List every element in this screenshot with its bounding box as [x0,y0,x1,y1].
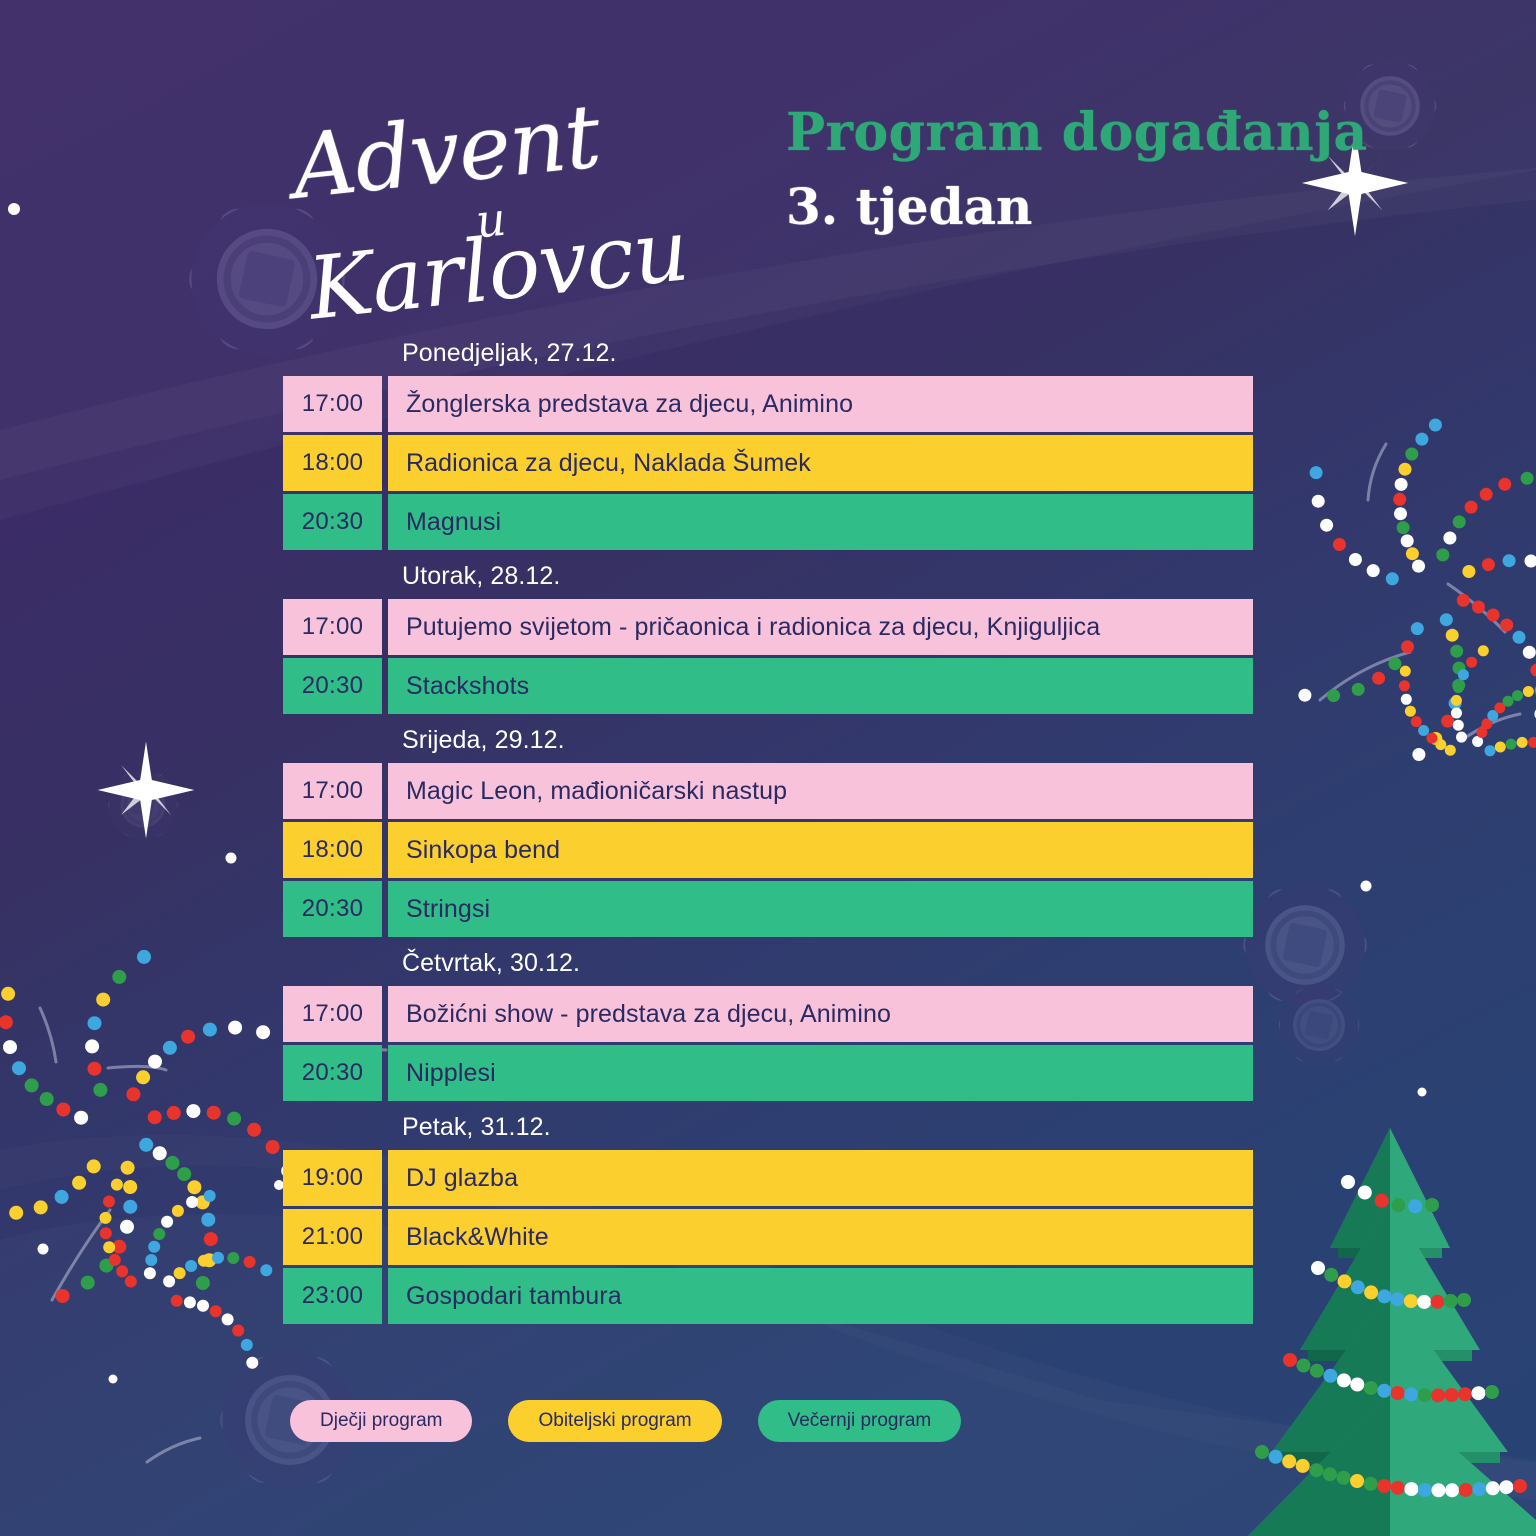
event-title: Božićni show - predstava za djecu, Animi… [388,986,1253,1042]
event-time: 23:00 [283,1268,382,1324]
event-time: 20:30 [283,494,382,550]
event-time: 18:00 [283,822,382,878]
event-title: Radionica za djecu, Naklada Šumek [388,435,1253,491]
event-row[interactable]: 17:00Putujemo svijetom - pričaonica i ra… [283,599,1253,655]
event-row[interactable]: 20:30Stackshots [283,658,1253,714]
legend: Dječji programObiteljski programVečernji… [290,1400,961,1442]
event-row[interactable]: 21:00Black&White [283,1209,1253,1265]
logo-line-karlovcu: Karlovcu [304,200,692,339]
poster-canvas: Advent u Karlovcu Program događanja 3. t… [0,0,1536,1536]
legend-pill-yellow[interactable]: Obiteljski program [508,1400,721,1442]
event-row[interactable]: 23:00Gospodari tambura [283,1268,1253,1324]
event-title: Žonglerska predstava za djecu, Animino [388,376,1253,432]
event-title: Nipplesi [388,1045,1253,1101]
advent-logo: Advent u Karlovcu [286,70,706,290]
event-row[interactable]: 17:00Magic Leon, mađioničarski nastup [283,763,1253,819]
event-row[interactable]: 20:30Stringsi [283,881,1253,937]
day-heading: Ponedjeljak, 27.12. [283,330,1253,376]
event-title: Gospodari tambura [388,1268,1253,1324]
day-heading: Utorak, 28.12. [283,553,1253,599]
event-row[interactable]: 18:00Radionica za djecu, Naklada Šumek [283,435,1253,491]
event-row[interactable]: 20:30Magnusi [283,494,1253,550]
event-time: 18:00 [283,435,382,491]
event-time: 20:30 [283,881,382,937]
schedule-table: Ponedjeljak, 27.12.17:00Žonglerska preds… [283,330,1253,1327]
event-time: 20:30 [283,1045,382,1101]
event-time: 17:00 [283,986,382,1042]
event-title: Stackshots [388,658,1253,714]
event-time: 17:00 [283,763,382,819]
event-title: Magic Leon, mađioničarski nastup [388,763,1253,819]
event-time: 20:30 [283,658,382,714]
event-title: Sinkopa bend [388,822,1253,878]
event-title: Stringsi [388,881,1253,937]
event-title: Putujemo svijetom - pričaonica i radioni… [388,599,1253,655]
event-row[interactable]: 20:30Nipplesi [283,1045,1253,1101]
page-subtitle: 3. tjedan [786,179,1368,234]
event-row[interactable]: 19:00DJ glazba [283,1150,1253,1206]
day-heading: Četvrtak, 30.12. [283,940,1253,986]
event-title: Magnusi [388,494,1253,550]
legend-pill-green[interactable]: Večernji program [758,1400,962,1442]
event-time: 17:00 [283,599,382,655]
logo-line-advent: Advent [287,84,604,219]
event-title: DJ glazba [388,1150,1253,1206]
event-title: Black&White [388,1209,1253,1265]
legend-pill-pink[interactable]: Dječji program [290,1400,472,1442]
day-heading: Petak, 31.12. [283,1104,1253,1150]
event-row[interactable]: 17:00Božićni show - predstava za djecu, … [283,986,1253,1042]
page-title: Program događanja [786,104,1368,161]
event-row[interactable]: 18:00Sinkopa bend [283,822,1253,878]
event-time: 17:00 [283,376,382,432]
day-heading: Srijeda, 29.12. [283,717,1253,763]
event-time: 19:00 [283,1150,382,1206]
header-block: Program događanja 3. tjedan [786,104,1368,234]
event-time: 21:00 [283,1209,382,1265]
event-row[interactable]: 17:00Žonglerska predstava za djecu, Anim… [283,376,1253,432]
